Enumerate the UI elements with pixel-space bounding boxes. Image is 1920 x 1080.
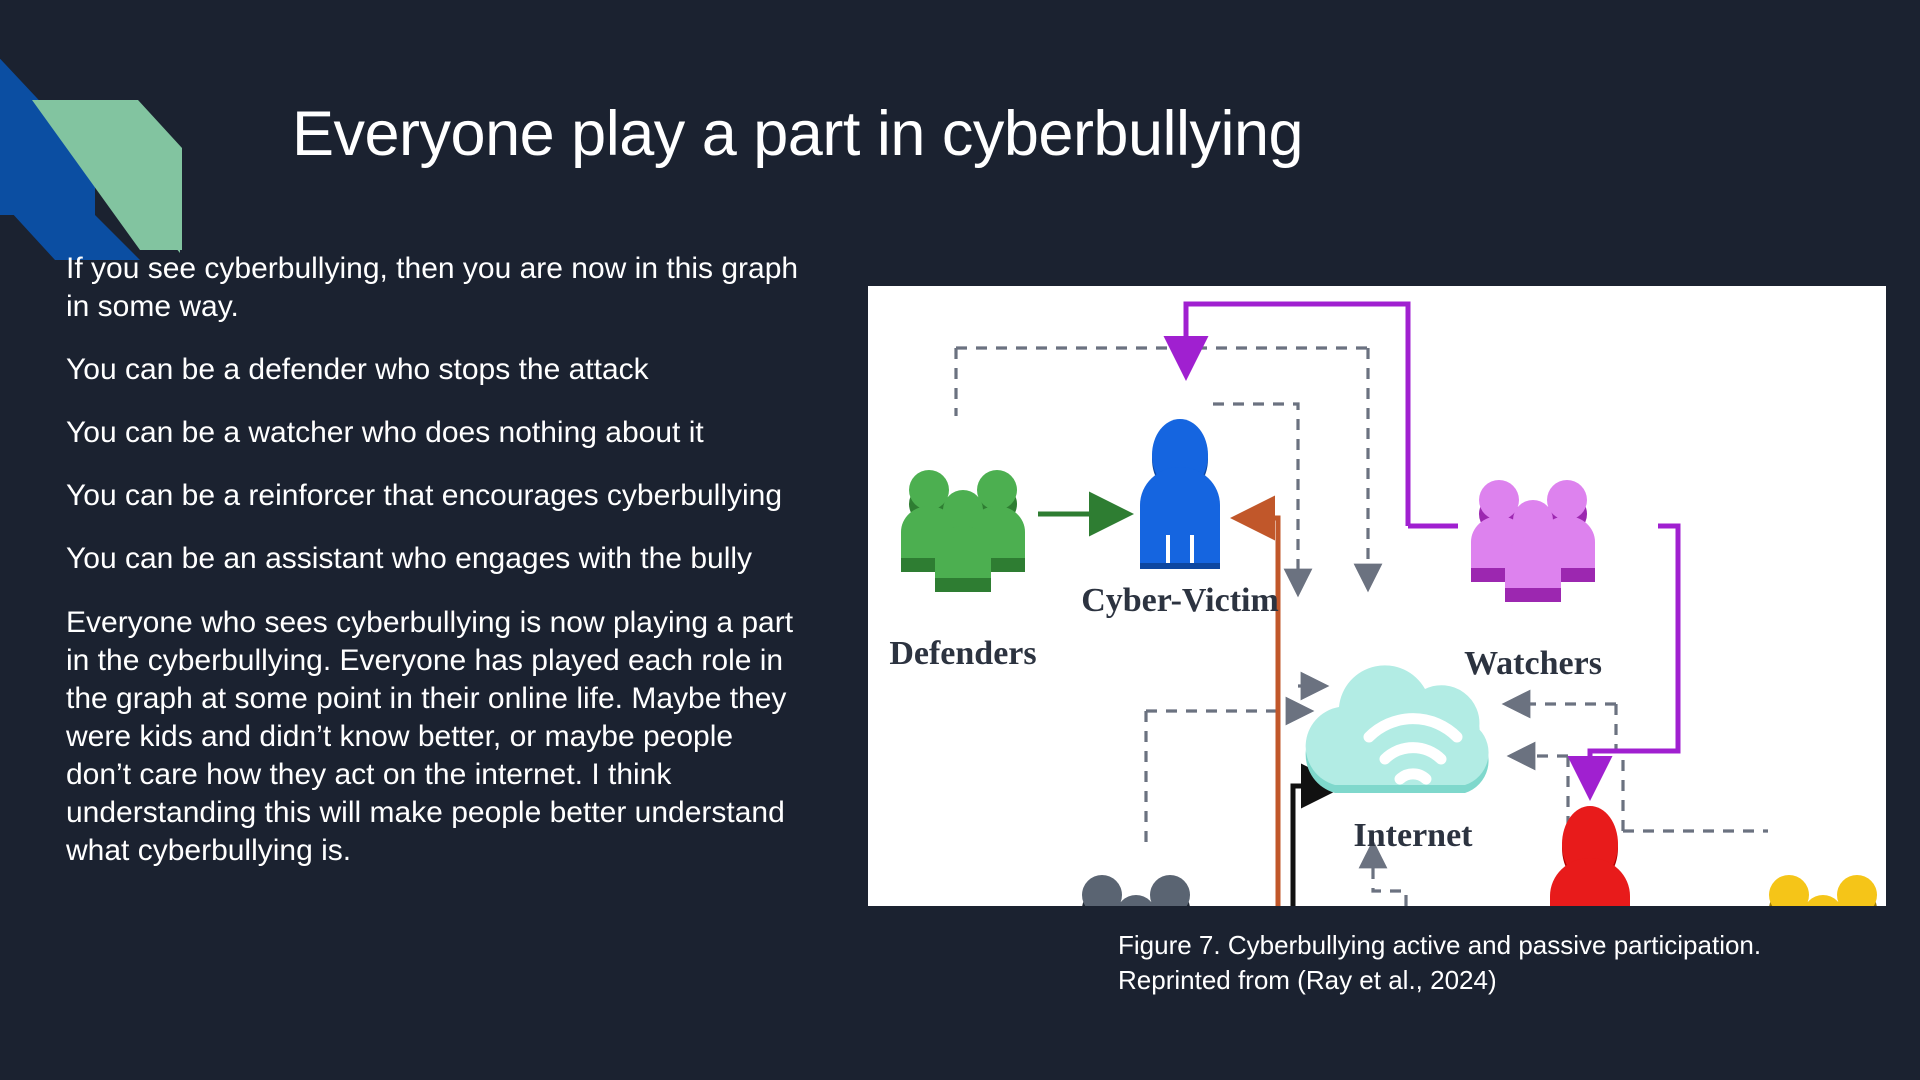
body-paragraph-6: Everyone who sees cyberbullying is now p… xyxy=(66,604,806,871)
node-cyber-victim xyxy=(1140,419,1220,569)
node-internet xyxy=(1306,665,1489,793)
figure-image-panel: Defenders Cyber-Victim Watchers xyxy=(868,286,1886,906)
node-perpetrator xyxy=(1550,806,1630,906)
node-defenders xyxy=(901,470,1025,592)
blue-diagonal-band-2 xyxy=(0,48,95,215)
body-paragraph-3: You can be a watcher who does nothing ab… xyxy=(66,414,806,452)
edge-watchers-to-perpetrator xyxy=(1590,526,1678,791)
body-text-column: If you see cyberbullying, then you are n… xyxy=(66,250,806,870)
figure-caption: Figure 7. Cyberbullying active and passi… xyxy=(1118,928,1878,997)
corner-decoration-shapes xyxy=(0,0,320,260)
node-label-watchers: Watchers xyxy=(1464,645,1602,682)
node-label-defenders: Defenders xyxy=(889,635,1036,672)
figure-caption-line-1: Figure 7. Cyberbullying active and passi… xyxy=(1118,928,1878,963)
slide-canvas: Everyone play a part in cyberbullying If… xyxy=(0,0,1920,1080)
page-title: Everyone play a part in cyberbullying xyxy=(292,100,1592,169)
body-paragraph-1: If you see cyberbullying, then you are n… xyxy=(66,250,806,326)
body-paragraph-4: You can be a reinforcer that encourages … xyxy=(66,477,806,515)
figure-caption-line-2: Reprinted from (Ray et al., 2024) xyxy=(1118,963,1878,998)
corner-decoration xyxy=(0,0,320,260)
node-label-internet: Internet xyxy=(1354,817,1474,854)
body-paragraph-5: You can be an assistant who engages with… xyxy=(66,540,806,578)
green-diagonal-band xyxy=(32,100,182,250)
cyberbullying-participation-diagram: Defenders Cyber-Victim Watchers xyxy=(868,286,1886,906)
blue-parallelogram xyxy=(0,55,140,260)
body-paragraph-2: You can be a defender who stops the atta… xyxy=(66,351,806,389)
green-parallelogram xyxy=(58,103,180,253)
node-label-cyber-victim: Cyber-Victim xyxy=(1081,582,1279,619)
node-outsiders xyxy=(1074,875,1198,906)
node-watchers xyxy=(1471,480,1595,602)
blue-diagonal-band xyxy=(0,48,58,215)
edge-watchers-to-victim xyxy=(1186,304,1408,526)
node-reinforcers xyxy=(1761,875,1885,906)
